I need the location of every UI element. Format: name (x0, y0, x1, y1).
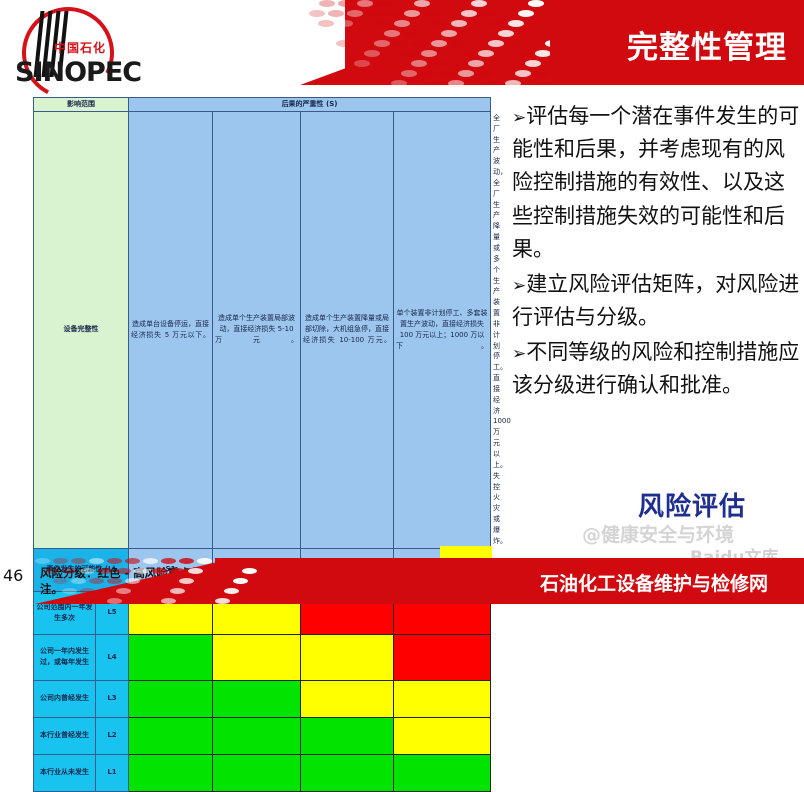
bullet-text: 建立风险评估矩阵，对风险进行评估与分级。 (512, 272, 799, 329)
likelihood-label-L1: 本行业从未发生 (34, 754, 96, 791)
halftone-dot (336, 40, 352, 47)
slide-root: 完整性管理 中国石化 SINOPEC 影响范围 后果的严重性 (S) 设备完整性… (0, 0, 804, 604)
matrix-cell-L3-S4[interactable] (394, 680, 491, 717)
halftone-dot (233, 558, 248, 564)
halftone-dot (71, 598, 86, 604)
bullet-item-1: ➢评估每一个潜在事件发生的可能性和后果，并考虑现有的风险控制措施的有效性、以及这… (512, 100, 802, 266)
halftone-dot (152, 588, 167, 594)
halftone-dot (179, 578, 194, 584)
halftone-dot (71, 558, 86, 564)
halftone-dot (404, 10, 420, 17)
likelihood-code-L4: L4 (96, 634, 129, 680)
halftone-dot (300, 0, 316, 7)
halftone-dot (233, 578, 248, 584)
halftone-dot (71, 578, 86, 584)
halftone-dot (224, 588, 239, 594)
halftone-dot (309, 10, 325, 17)
matrix-row-L3: 公司内曾经发生L3 (34, 680, 491, 717)
halftone-dot (395, 0, 411, 7)
halftone-dot (188, 568, 203, 574)
halftone-dot (62, 588, 77, 594)
halftone-dot (479, 30, 495, 37)
halftone-dot (347, 10, 363, 17)
halftone-dot (260, 588, 265, 594)
halftone-dot (411, 60, 427, 67)
bullet-arrow-icon: ➢ (512, 344, 526, 364)
halftone-dot (469, 40, 485, 47)
matrix-cell-L3-S1[interactable] (129, 680, 213, 717)
page-title: 完整性管理 (627, 22, 787, 67)
halftone-dot (242, 568, 257, 574)
halftone-dot (161, 598, 176, 604)
halftone-dot (394, 20, 410, 27)
halftone-dot (373, 60, 389, 67)
severity-desc-s1: 造成单台设备停运，直接经济损失 5 万元以下。 (129, 111, 213, 548)
halftone-dot (505, 80, 521, 85)
likelihood-code-L2: L2 (96, 717, 129, 754)
matrix-cell-L4-S2[interactable] (213, 634, 301, 680)
halftone-dot (527, 20, 543, 27)
halftone-dot (170, 568, 185, 574)
halftone-dot (471, 0, 487, 7)
matrix-cell-L2-S1[interactable] (129, 717, 213, 754)
halftone-dot (318, 20, 334, 27)
logo-latin-text: SINOPEC (15, 57, 141, 88)
matrix-cell-L1-S2[interactable] (213, 754, 301, 791)
bullet-arrow-icon: ➢ (512, 108, 526, 128)
halftone-dot (384, 30, 400, 37)
bullet-text: 评估每一个潜在事件发生的可能性和后果，并考虑现有的风险控制措施的有效性、以及这些… (512, 104, 799, 261)
halftone-dot (470, 20, 486, 27)
matrix-cell-L4-S4[interactable] (394, 634, 491, 680)
halftone-dot (450, 40, 466, 47)
halftone-dot (429, 80, 445, 85)
matrix-row-L2: 本行业曾经发生L2 (34, 717, 491, 754)
halftone-dot (528, 0, 544, 7)
matrix-cell-L3-S2[interactable] (213, 680, 301, 717)
halftone-dot (375, 20, 391, 27)
halftone-dot (486, 80, 502, 85)
halftone-dot (338, 0, 354, 7)
halftone-dot (498, 30, 514, 37)
banner-dot-pattern (300, 0, 550, 85)
halftone-dot (403, 30, 419, 37)
halftone-dot (458, 70, 474, 77)
halftone-dot (366, 10, 382, 17)
halftone-dot (161, 558, 176, 564)
halftone-dot (534, 70, 550, 77)
halftone-dot (535, 50, 550, 57)
halftone-dot (44, 568, 59, 574)
halftone-dot (206, 568, 221, 574)
halftone-dot (224, 568, 239, 574)
halftone-dot (537, 10, 550, 17)
matrix-cell-L1-S1[interactable] (129, 754, 213, 791)
halftone-dot (107, 558, 122, 564)
halftone-dot (497, 50, 513, 57)
halftone-dot (125, 598, 140, 604)
halftone-dot (89, 578, 104, 584)
halftone-dot (134, 588, 149, 594)
halftone-dot (179, 598, 194, 604)
severity-desc-s3: 造成单个生产装置降量或局部切除，大机组急停，直接经济损失 10-100 万元。 (301, 111, 394, 548)
halftone-dot (107, 578, 122, 584)
halftone-dot (487, 60, 503, 67)
halftone-dot (420, 70, 436, 77)
halftone-dot (546, 20, 550, 27)
halftone-dot (441, 30, 457, 37)
halftone-dot (328, 10, 344, 17)
halftone-dot (337, 20, 353, 27)
halftone-dot (480, 10, 496, 17)
halftone-dot (357, 0, 373, 7)
halftone-dot (515, 70, 531, 77)
halftone-dot (410, 80, 426, 85)
halftone-dot (197, 558, 212, 564)
halftone-dot (449, 60, 465, 67)
halftone-dot (430, 60, 446, 67)
halftone-dot (385, 10, 401, 17)
halftone-dot (496, 70, 512, 77)
bullet-arrow-icon: ➢ (512, 276, 526, 296)
halftone-dot (80, 568, 95, 574)
likelihood-label-L4: 公司一年内发生过，或每年发生 (34, 634, 96, 680)
halftone-dot (206, 588, 221, 594)
halftone-dot (53, 578, 68, 584)
halftone-dot (431, 40, 447, 47)
halftone-dot (80, 588, 95, 594)
halftone-dot (89, 558, 104, 564)
halftone-dot (125, 558, 140, 564)
halftone-dot (89, 598, 104, 604)
halftone-dot (215, 558, 230, 564)
halftone-dot (382, 70, 398, 77)
halftone-dot (459, 50, 475, 57)
halftone-dot (345, 50, 361, 57)
halftone-dot (414, 0, 430, 7)
table-row-severity-header: 影响范围 后果的严重性 (S) (34, 98, 491, 112)
halftone-dot (489, 20, 505, 27)
likelihood-code-L1: L1 (96, 754, 129, 791)
matrix-cell-L4-S1[interactable] (129, 634, 213, 680)
decorative-yellow-stub (440, 546, 492, 558)
halftone-dot (526, 40, 542, 47)
logo-chinese-text: 中国石化 (54, 39, 106, 56)
halftone-dot (134, 568, 149, 574)
severity-desc-s4: 单个装置非计划停工、多套装置生产波动，直接经济损失 100 万元以上；1000 … (394, 111, 491, 548)
halftone-dot (376, 0, 392, 7)
halftone-dot (393, 40, 409, 47)
halftone-dot (467, 80, 483, 85)
halftone-dot (161, 578, 176, 584)
halftone-dot (98, 568, 113, 574)
halftone-dot (518, 10, 534, 17)
halftone-dot (242, 588, 257, 594)
halftone-dot (423, 10, 439, 17)
halftone-dot (197, 578, 212, 584)
halftone-dot (116, 588, 131, 594)
halftone-dot (422, 30, 438, 37)
halftone-dot (499, 10, 515, 17)
halftone-dot (53, 558, 68, 564)
halftone-dot (478, 50, 494, 57)
halftone-dot (525, 60, 541, 67)
halftone-dot (524, 80, 540, 85)
matrix-cell-L1-S4[interactable] (394, 754, 491, 791)
halftone-dot (490, 0, 506, 7)
halftone-dot (233, 598, 248, 604)
matrix-cell-L2-S4[interactable] (394, 717, 491, 754)
bottom-dot-pattern (35, 558, 265, 604)
halftone-dot (506, 60, 522, 67)
halftone-dot (374, 40, 390, 47)
table-row-severity-descriptions: 设备完整性 造成单台设备停运，直接经济损失 5 万元以下。造成单个生产装置局部波… (34, 111, 491, 548)
halftone-dot (413, 20, 429, 27)
halftone-dot (460, 30, 476, 37)
halftone-dot (508, 20, 524, 27)
bullet-text: 不同等级的风险和控制措施应该分级进行确认和批准。 (512, 340, 799, 397)
halftone-dot (107, 598, 122, 604)
bullet-list: ➢评估每一个潜在事件发生的可能性和后果，并考虑现有的风险控制措施的有效性、以及这… (512, 100, 802, 405)
severity-header: 后果的严重性 (S) (129, 98, 491, 112)
halftone-dot (452, 0, 468, 7)
halftone-dot (215, 578, 230, 584)
halftone-dot (346, 30, 362, 37)
halftone-dot (544, 60, 550, 67)
halftone-dot (432, 20, 448, 27)
likelihood-code-L3: L3 (96, 680, 129, 717)
halftone-dot (365, 30, 381, 37)
halftone-dot (451, 20, 467, 27)
matrix-row-L1: 本行业从未发生L1 (34, 754, 491, 791)
halftone-dot (442, 10, 458, 17)
halftone-dot (143, 598, 158, 604)
bullet-item-3: ➢不同等级的风险和控制措施应该分级进行确认和批准。 (512, 336, 802, 402)
halftone-dot (401, 70, 417, 77)
halftone-dot (440, 50, 456, 57)
halftone-dot (125, 578, 140, 584)
halftone-dot (517, 30, 533, 37)
matrix-cell-L2-S3[interactable] (301, 717, 394, 754)
halftone-dot (179, 558, 194, 564)
halftone-dot (412, 40, 428, 47)
severity-desc-s2: 造成单个生产装置局部波动，直接经济损失 5-10 万元。 (213, 111, 301, 548)
halftone-dot (62, 568, 77, 574)
halftone-dot (356, 20, 372, 27)
halftone-dot (116, 568, 131, 574)
bullet-item-2: ➢建立风险评估矩阵，对风险进行评估与分级。 (512, 268, 802, 334)
matrix-cell-L1-S3[interactable] (301, 754, 394, 791)
halftone-dot (509, 0, 525, 7)
bottom-bar-text: 石油化工设备维护与检修网 (540, 569, 768, 596)
halftone-dot (251, 578, 265, 584)
halftone-dot (143, 558, 158, 564)
matrix-cell-L4-S3[interactable] (301, 634, 394, 680)
matrix-cell-L3-S3[interactable] (301, 680, 394, 717)
halftone-dot (215, 598, 230, 604)
halftone-dot (251, 598, 265, 604)
halftone-dot (468, 60, 484, 67)
matrix-cell-L2-S2[interactable] (213, 717, 301, 754)
halftone-dot (488, 40, 504, 47)
halftone-dot (355, 40, 371, 47)
halftone-dot (391, 80, 407, 85)
halftone-dot (536, 30, 550, 37)
halftone-dot (35, 558, 50, 564)
halftone-dot (197, 598, 212, 604)
halftone-dot (545, 40, 550, 47)
halftone-dot (477, 70, 493, 77)
halftone-dot (143, 578, 158, 584)
halftone-dot (439, 70, 455, 77)
likelihood-label-L2: 本行业曾经发生 (34, 717, 96, 754)
halftone-dot (152, 568, 167, 574)
halftone-dot (516, 50, 532, 57)
halftone-dot (507, 40, 523, 47)
sinopec-logo: 中国石化 SINOPEC (10, 5, 130, 93)
halftone-dot (364, 50, 380, 57)
halftone-dot (448, 80, 464, 85)
halftone-dot (354, 60, 370, 67)
halftone-dot (98, 588, 113, 594)
halftone-dot (372, 80, 388, 85)
halftone-dot (461, 10, 477, 17)
halftone-dot (547, 0, 550, 7)
matrix-row-L4: 公司一年内发生过，或每年发生L4 (34, 634, 491, 680)
scope-row-label: 设备完整性 (34, 111, 129, 548)
risk-matrix-table: 影响范围 后果的严重性 (S) 设备完整性 造成单台设备停运，直接经济损失 5 … (33, 97, 490, 792)
halftone-dot (327, 30, 343, 37)
halftone-dot (392, 60, 408, 67)
halftone-dot (188, 588, 203, 594)
halftone-dot (402, 50, 418, 57)
halftone-dot (433, 0, 449, 7)
halftone-dot (421, 50, 437, 57)
halftone-dot (170, 588, 185, 594)
halftone-dot (363, 70, 379, 77)
halftone-dot (319, 0, 335, 7)
likelihood-label-L3: 公司内曾经发生 (34, 680, 96, 717)
scope-header: 影响范围 (34, 98, 129, 112)
bottom-banner: 石油化工设备维护与检修网 (0, 558, 804, 604)
halftone-dot (383, 50, 399, 57)
halftone-dot (543, 80, 550, 85)
risk-assessment-label: 风险评估 (638, 486, 746, 523)
